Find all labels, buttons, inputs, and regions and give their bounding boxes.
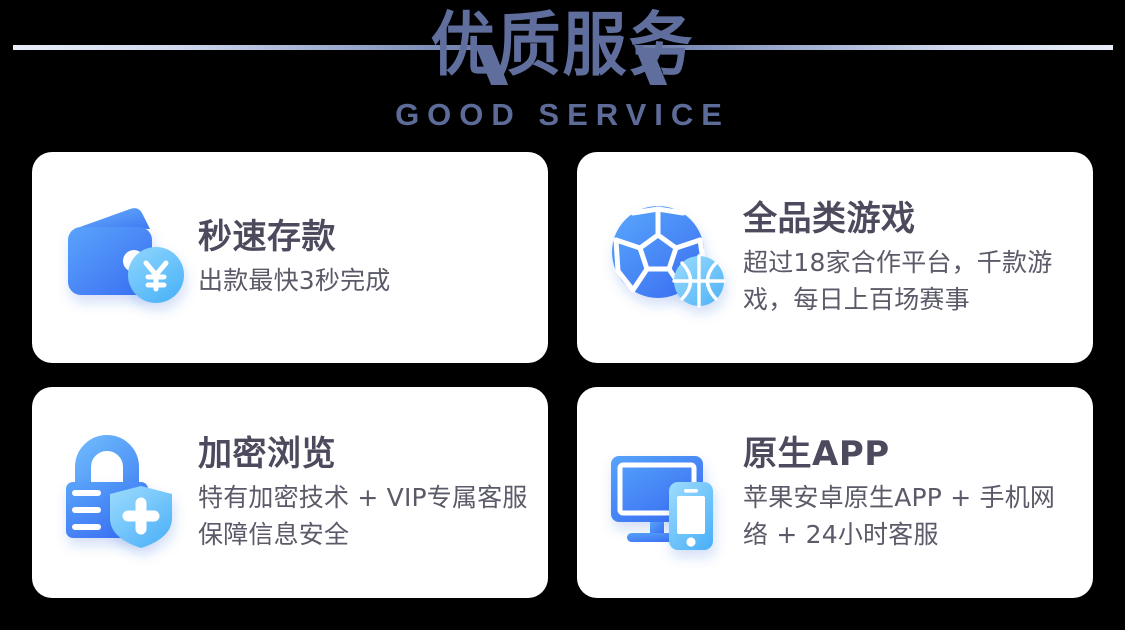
card-description: 出款最快3秒完成 — [198, 262, 530, 299]
card-title: 加密浏览 — [198, 433, 530, 475]
page-subtitle: GOOD SERVICE — [395, 98, 730, 132]
card-text-group: 秒速存款 出款最快3秒完成 — [198, 216, 530, 299]
feature-card-games[interactable]: 全品类游戏 超过18家合作平台，千款游戏，每日上百场赛事 — [577, 152, 1093, 363]
card-description: 特有加密技术 + VIP专属客服保障信息安全 — [198, 479, 530, 553]
card-title: 全品类游戏 — [743, 198, 1075, 240]
feature-card-deposit[interactable]: 秒速存款 出款最快3秒完成 — [32, 152, 548, 363]
monitor-phone-icon — [603, 430, 729, 556]
header-title-group: 优质服务 GOOD SERVICE — [0, 0, 1125, 132]
card-title: 原生APP — [743, 433, 1075, 475]
feature-card-native-app[interactable]: 原生APP 苹果安卓原生APP + 手机网络 + 24小时客服 — [577, 387, 1093, 598]
card-description: 苹果安卓原生APP + 手机网络 + 24小时客服 — [743, 479, 1075, 553]
page-title: 优质服务 — [431, 0, 695, 96]
soccer-basketball-icon — [603, 195, 729, 321]
page-header: 优质服务 GOOD SERVICE — [0, 0, 1125, 150]
feature-card-grid: 秒速存款 出款最快3秒完成 — [32, 152, 1093, 598]
card-description: 超过18家合作平台，千款游戏，每日上百场赛事 — [743, 244, 1075, 318]
card-text-group: 加密浏览 特有加密技术 + VIP专属客服保障信息安全 — [198, 433, 530, 553]
feature-card-encryption[interactable]: 加密浏览 特有加密技术 + VIP专属客服保障信息安全 — [32, 387, 548, 598]
card-text-group: 原生APP 苹果安卓原生APP + 手机网络 + 24小时客服 — [743, 433, 1075, 553]
lock-shield-icon — [58, 430, 184, 556]
wallet-icon — [58, 195, 184, 321]
card-text-group: 全品类游戏 超过18家合作平台，千款游戏，每日上百场赛事 — [743, 198, 1075, 318]
card-title: 秒速存款 — [198, 216, 530, 258]
service-feature-banner: 优质服务 GOOD SERVICE — [0, 0, 1125, 630]
